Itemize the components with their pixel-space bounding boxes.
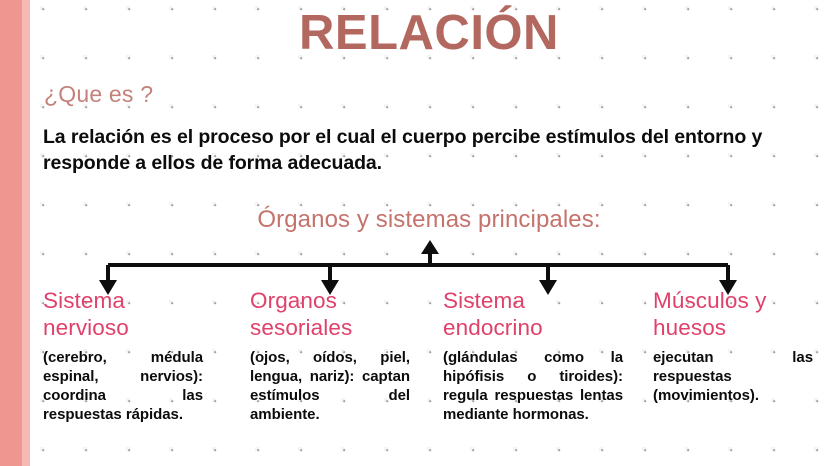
column-sistema-nervioso: Sistema nervioso (cerebro, médula espina…: [43, 288, 203, 424]
column-heading: Sistema nervioso: [43, 288, 203, 341]
page-title: RELACIÓN: [30, 6, 828, 61]
definition-paragraph: La relación es el proceso por el cual el…: [43, 124, 788, 177]
question-heading: ¿Que es ?: [44, 81, 153, 108]
column-body: ejecutan las respuestas (movimientos).: [653, 348, 813, 405]
organs-section-heading: Órganos y sistemas principales:: [30, 206, 828, 234]
column-body: (glándulas como la hipófisis o tiroides)…: [443, 348, 623, 424]
column-organos-sesoriales: Organos sesoriales (ojos, oídos, piel, l…: [250, 288, 410, 424]
arrow-head-up: [421, 240, 439, 254]
slide-canvas: RELACIÓN ¿Que es ? La relación es el pro…: [0, 0, 828, 466]
column-sistema-endocrino: Sistema endocrino (glándulas como la hip…: [443, 288, 623, 424]
column-body: (ojos, oídos, piel, lengua, nariz): capt…: [250, 348, 410, 424]
column-musculos-y-huesos: Músculos y huesos ejecutan las respuesta…: [653, 288, 813, 405]
column-body: (cerebro, médula espinal, nervios): coor…: [43, 348, 203, 424]
columns-container: Sistema nervioso (cerebro, médula espina…: [0, 288, 828, 466]
column-heading: Músculos y huesos: [653, 288, 813, 341]
column-heading: Sistema endocrino: [443, 288, 623, 341]
column-heading: Organos sesoriales: [250, 288, 410, 341]
